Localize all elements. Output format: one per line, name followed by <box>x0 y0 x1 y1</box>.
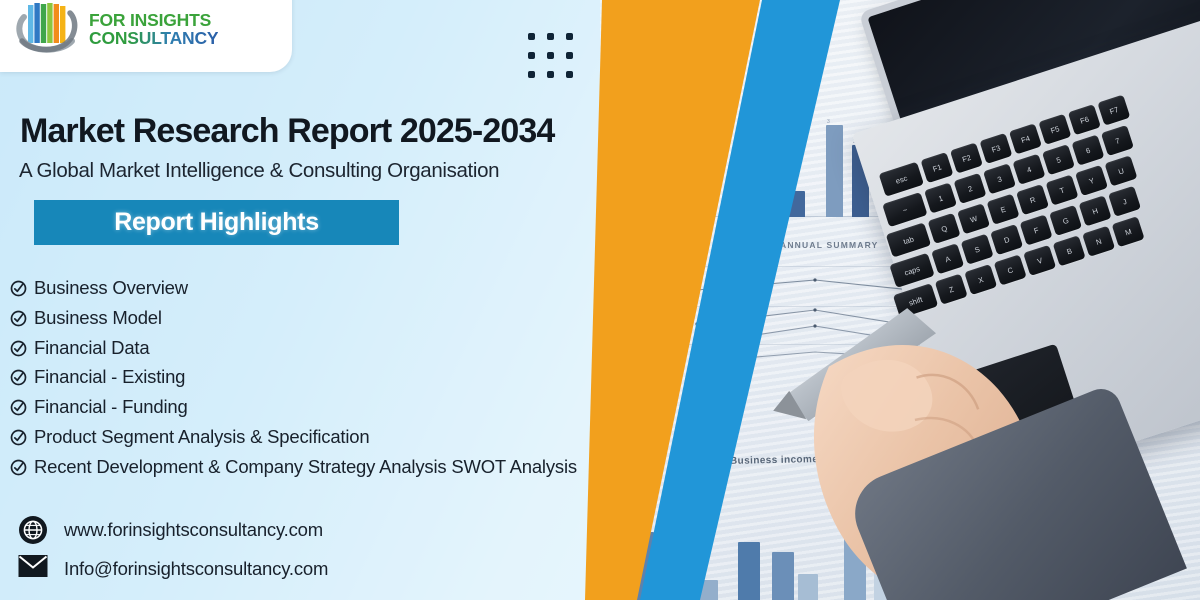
list-item-label: Financial Data <box>34 335 149 361</box>
list-item: Financial - Existing <box>10 364 660 393</box>
list-item: Product Segment Analysis & Specification <box>10 424 660 453</box>
email-address: Info@forinsightsconsultancy.com <box>64 558 328 580</box>
report-highlights-label: Report Highlights <box>114 208 319 237</box>
highlights-list: Business Overview Business Model Financi… <box>10 275 660 483</box>
list-item-label: Business Overview <box>34 275 188 301</box>
contact-block: www.forinsightsconsultancy.com Info@fori… <box>18 515 328 593</box>
check-circle-icon <box>10 457 27 483</box>
content-column: FOR INSIGHTS CONSULTANCY Market Research… <box>0 0 680 600</box>
bar-chart-globe-orbit-logo <box>14 1 80 57</box>
check-circle-icon <box>10 308 27 334</box>
report-highlights-banner: Report Highlights <box>34 200 399 245</box>
check-circle-icon <box>10 338 27 364</box>
list-item: Financial Data <box>10 335 660 364</box>
check-circle-icon <box>10 278 27 304</box>
report-banner: 2 1 1 3 3 Q1 Q2 Q3 Jan Feb ANNUAL SUMMAR… <box>0 0 1200 600</box>
list-item-label: Recent Development & Company Strategy An… <box>34 454 577 480</box>
check-circle-icon <box>10 397 27 423</box>
brand-wordmark: FOR INSIGHTS CONSULTANCY <box>89 10 218 48</box>
envelope-icon <box>18 554 48 584</box>
list-item: Business Model <box>10 305 660 334</box>
list-item: Recent Development & Company Strategy An… <box>10 454 660 483</box>
list-item: Business Overview <box>10 275 660 304</box>
website-url: www.forinsightsconsultancy.com <box>64 519 323 541</box>
contact-website[interactable]: www.forinsightsconsultancy.com <box>18 515 328 545</box>
check-circle-icon <box>10 427 27 453</box>
list-item-label: Product Segment Analysis & Specification <box>34 424 369 450</box>
globe-icon <box>18 515 48 545</box>
contact-email[interactable]: Info@forinsightsconsultancy.com <box>18 554 328 584</box>
list-item-label: Financial - Existing <box>34 364 185 390</box>
list-item: Financial - Funding <box>10 394 660 423</box>
check-circle-icon <box>10 367 27 393</box>
brand-line-2: CONSULTANCY <box>89 30 218 48</box>
brand-logo-card[interactable]: FOR INSIGHTS CONSULTANCY <box>0 0 292 72</box>
page-title: Market Research Report 2025-2034 <box>20 112 554 151</box>
list-item-label: Financial - Funding <box>34 394 188 420</box>
list-item-label: Business Model <box>34 305 162 331</box>
page-subtitle: A Global Market Intelligence & Consultin… <box>19 159 499 183</box>
dot-grid-3x3-icon <box>528 33 573 78</box>
